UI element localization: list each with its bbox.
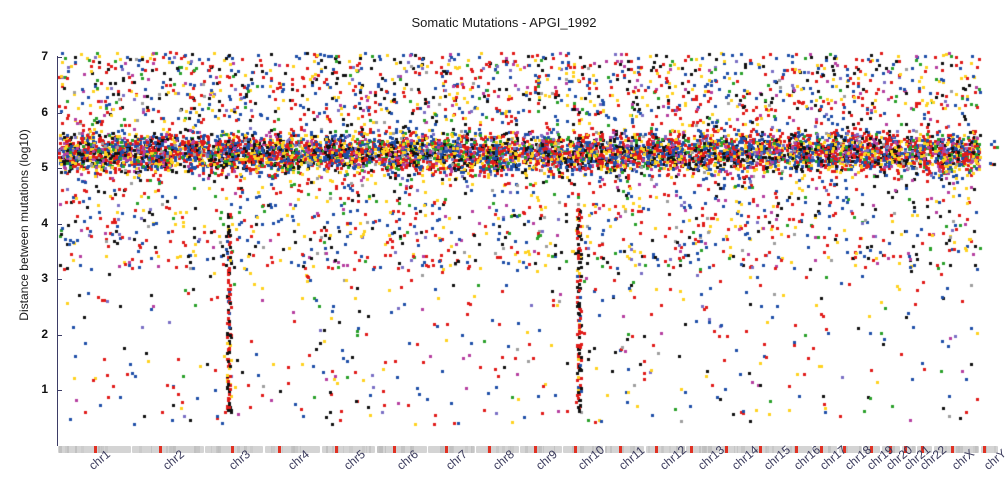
y-axis-tick-label: 3 (22, 271, 48, 285)
ideogram-band (699, 446, 700, 453)
y-axis-tick-label: 5 (22, 160, 48, 174)
ideogram-band (385, 446, 386, 453)
ideogram-band (648, 446, 650, 453)
centromere-marker (795, 446, 798, 453)
centromere-marker (393, 446, 396, 453)
ideogram-band (218, 446, 221, 453)
ideogram-band (471, 446, 474, 453)
centromere-marker (231, 446, 234, 453)
ideogram-chr2 (132, 446, 203, 453)
centromere-marker (574, 446, 577, 453)
centromere-marker (534, 446, 537, 453)
ideogram-band (343, 446, 345, 453)
ideogram-band (380, 446, 383, 453)
ideogram-band (59, 446, 62, 453)
ideogram-band (166, 446, 168, 453)
centromere-marker (278, 446, 281, 453)
ideogram-chr3 (205, 446, 263, 453)
y-axis-tick-label: 6 (22, 105, 48, 119)
ideogram-band (250, 446, 253, 453)
y-axis-tick-label: 7 (22, 49, 48, 63)
ideogram-chr4 (265, 446, 321, 453)
centromere-marker (159, 446, 162, 453)
centromere-marker (655, 446, 658, 453)
centromere-marker (445, 446, 448, 453)
ideogram-band (292, 446, 295, 453)
ideogram-band (610, 446, 613, 453)
ideogram-band (737, 446, 738, 453)
centromere-marker (690, 446, 693, 453)
ideogram-band (282, 446, 283, 453)
ideogram-band (734, 446, 735, 453)
centromere-marker (619, 446, 622, 453)
ideogram-chr5 (322, 446, 375, 453)
ideogram-band (332, 446, 334, 453)
ideogram-chr6 (377, 446, 427, 453)
ideogram-band (81, 446, 84, 453)
ideogram-chr7 (428, 446, 475, 453)
ideogram-band (449, 446, 453, 453)
ideogram-chr1 (58, 446, 131, 453)
rainfall-plot-figure: Somatic Mutations - APGI_1992 Distance b… (0, 0, 1008, 504)
ideogram-band (197, 446, 200, 453)
y-axis-tick-label: 4 (22, 216, 48, 230)
plot-area (58, 22, 1006, 446)
ideogram-band (537, 446, 539, 453)
ideogram-band (75, 446, 77, 453)
y-axis-tick-label: 2 (22, 327, 48, 341)
ideogram-band (272, 446, 276, 453)
ideogram-band (194, 446, 196, 453)
ideogram-band (496, 446, 500, 453)
ideogram-band (271, 446, 272, 453)
ideogram-band (139, 446, 141, 453)
ideogram-band (525, 446, 528, 453)
ideogram-band (67, 446, 69, 453)
ideogram-band (211, 446, 212, 453)
centromere-marker (488, 446, 491, 453)
y-axis-tick-label: 1 (22, 382, 48, 396)
ideogram-band (766, 446, 769, 453)
ideogram-band (151, 446, 152, 453)
centromere-marker (983, 446, 986, 453)
ideogram-band (369, 446, 371, 453)
y-axis: 1234567 (0, 0, 60, 504)
ideogram-band (580, 446, 582, 453)
ideogram-band (326, 446, 328, 453)
ideogram-band (366, 446, 368, 453)
centromere-marker (335, 446, 338, 453)
scatter-canvas (58, 22, 1006, 446)
ideogram-band (661, 446, 664, 453)
centromere-marker (951, 446, 954, 453)
